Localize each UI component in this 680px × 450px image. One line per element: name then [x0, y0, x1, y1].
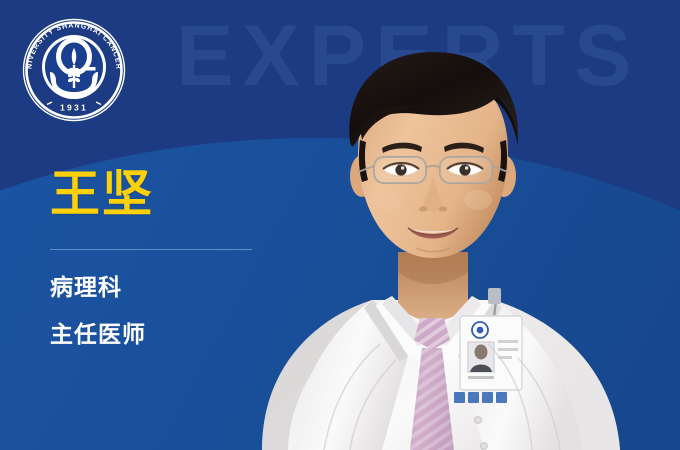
doctor-info-block: 王坚 病理科 主任医师	[50, 168, 265, 346]
doctor-title: 主任医师	[50, 323, 265, 346]
doctor-meta: 病理科 主任医师	[50, 276, 265, 346]
svg-text:1931: 1931	[60, 103, 88, 113]
doctor-name: 王坚	[50, 168, 265, 221]
expert-profile-card: EXPERTS FUDAN UNIVERSITY SHANGHAI CANCER…	[0, 0, 680, 450]
doctor-department: 病理科	[50, 276, 265, 299]
hospital-logo: FUDAN UNIVERSITY SHANGHAI CANCER CENTER …	[22, 18, 126, 122]
info-divider	[50, 249, 252, 250]
doctor-portrait-photo	[232, 0, 632, 450]
